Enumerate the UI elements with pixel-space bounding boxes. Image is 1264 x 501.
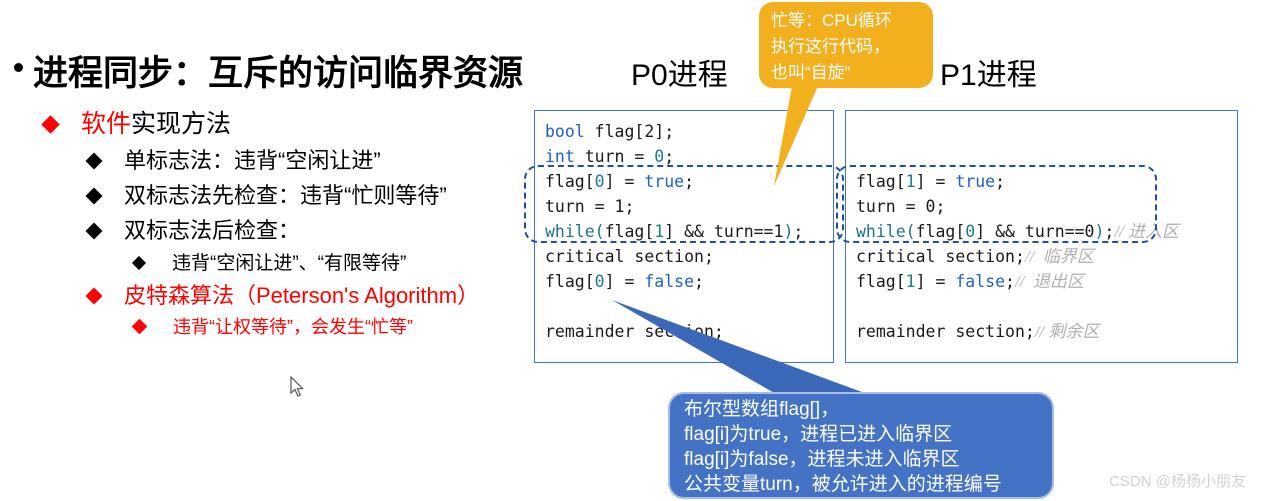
diamond-bullet-icon [86, 223, 103, 240]
code-comment: // 进入区 [1114, 222, 1179, 241]
diamond-bullet-icon [86, 288, 103, 305]
list-item-label: 违背“让权等待”，会发生“忙等” [173, 313, 413, 339]
diamond-bullet-icon [132, 319, 148, 335]
code-panel-p1: flag[1] = true; turn = 0; while(flag[0] … [845, 110, 1238, 363]
list-item-label: 单标志法：违背“空闲让进” [124, 143, 381, 175]
code-number: 1 [906, 272, 916, 291]
code-text: ] = [605, 272, 645, 291]
list-item-label: 皮特森算法（Peterson's Algorithm） [124, 278, 479, 310]
code-text: critical section; [856, 247, 1025, 266]
diamond-bullet-icon [86, 153, 103, 170]
code-text: flag[2]; [585, 122, 674, 141]
code-blank-line [856, 294, 1237, 319]
diamond-bullet-icon [86, 188, 103, 205]
code-text: ] = [916, 172, 956, 191]
code-keyword: while [545, 222, 595, 241]
callout-flag-explanation: 布尔型数组flag[]， flag[i]为true，进程已进入临界区 flag[… [668, 392, 1054, 499]
list-item-label: 违背“空闲让进”、“有限等待” [172, 248, 406, 275]
code-keyword: false [955, 272, 1005, 291]
process-label-p1: P1进程 [940, 50, 1037, 94]
list-item-label-rest: 实现方法 [131, 110, 231, 138]
blue-callout-arrow-icon [600, 290, 900, 405]
code-comment: // 剩余区 [1035, 322, 1100, 341]
mouse-cursor-icon [290, 376, 306, 398]
code-number: 1 [654, 222, 664, 241]
list-item-label: 双标志法先检查：违背“忙则等待” [124, 178, 447, 210]
code-number: 1 [906, 172, 916, 191]
diamond-bullet-icon [132, 256, 146, 270]
code-block-p1: flag[1] = true; turn = 0; while(flag[0] … [846, 111, 1237, 344]
code-paren: ) [783, 222, 793, 241]
code-text: flag[ [545, 172, 595, 191]
code-paren: ) [1094, 222, 1104, 241]
code-blank-line [856, 119, 1237, 144]
code-text: ; [664, 147, 674, 166]
code-number: 0 [595, 272, 605, 291]
code-text: turn = [575, 147, 654, 166]
code-comment: // 退出区 [1015, 272, 1084, 291]
list-item: 违背“让权等待”，会发生“忙等” [22, 313, 522, 339]
code-keyword: true [955, 172, 995, 191]
code-text: flag[ [856, 272, 906, 291]
code-text: ] && turn==1 [664, 222, 783, 241]
title-bullet-dot [14, 63, 23, 72]
code-text: ] = [605, 172, 645, 191]
code-text: turn = 0; [856, 197, 945, 216]
code-text: ; [1104, 222, 1114, 241]
code-keyword: true [644, 172, 684, 191]
watermark: CSDN @杨杨小朋友 [1109, 470, 1246, 491]
code-text: flag[ [605, 222, 655, 241]
code-text: flag[ [916, 222, 966, 241]
code-paren: ( [906, 222, 916, 241]
list-item: 软件实现方法 [22, 104, 522, 140]
code-blank-line [856, 144, 1237, 169]
slide-canvas: 进程同步：互斥的访问临界资源 软件实现方法 单标志法：违背“空闲让进” 双标志法… [0, 0, 1264, 501]
list-item: 双标志法后检查： [22, 213, 522, 245]
list-item-label: 软件实现方法 [81, 104, 231, 140]
code-text: ; [995, 172, 1005, 191]
code-keyword: false [644, 272, 694, 291]
code-text: ; [1005, 272, 1015, 291]
code-text: ; [793, 222, 803, 241]
code-text: turn = 1; [545, 197, 634, 216]
code-number: 0 [595, 172, 605, 191]
code-comment: // 临界区 [1025, 247, 1094, 266]
code-keyword: bool [545, 122, 585, 141]
page-title: 进程同步：互斥的访问临界资源 [14, 45, 523, 96]
code-number: 0 [654, 147, 664, 166]
code-text: ] && turn==0 [975, 222, 1094, 241]
list-item-label-highlight: 软件 [81, 110, 131, 138]
yellow-callout-arrow-icon [758, 86, 878, 188]
code-paren: ( [595, 222, 605, 241]
code-keyword: while [856, 222, 906, 241]
list-item-label: 双标志法后检查： [124, 213, 300, 245]
list-item: 皮特森算法（Peterson's Algorithm） [22, 278, 522, 310]
code-text: critical section; [545, 247, 714, 266]
code-number: 0 [965, 222, 975, 241]
page-title-text: 进程同步：互斥的访问临界资源 [33, 45, 523, 96]
list-item: 单标志法：违背“空闲让进” [22, 143, 522, 175]
code-text: ; [684, 172, 694, 191]
diamond-bullet-icon [41, 115, 59, 133]
code-keyword: int [545, 147, 575, 166]
process-label-p0: P0进程 [631, 50, 728, 94]
callout-busy-wait: 忙等：CPU循环 执行这行代码， 也叫“自旋” [759, 2, 933, 88]
code-text: flag[ [545, 272, 595, 291]
code-text: ] = [916, 272, 956, 291]
list-item: 违背“空闲让进”、“有限等待” [22, 248, 522, 275]
bullet-list: 软件实现方法 单标志法：违背“空闲让进” 双标志法先检查：违背“忙则等待” 双标… [22, 104, 522, 342]
list-item: 双标志法先检查：违背“忙则等待” [22, 178, 522, 210]
code-text: ; [694, 272, 704, 291]
